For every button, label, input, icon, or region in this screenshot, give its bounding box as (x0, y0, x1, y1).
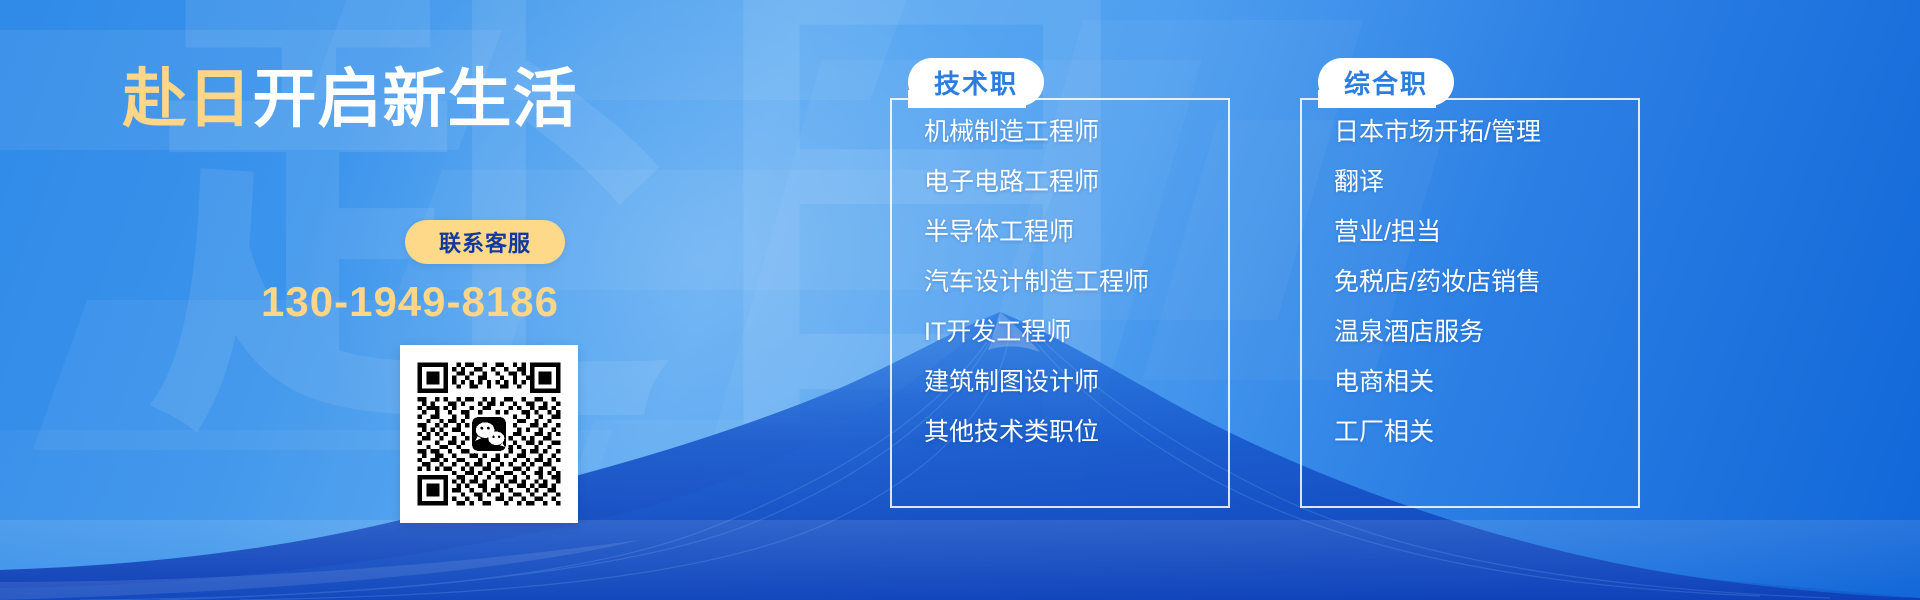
job-list-item[interactable]: 翻译 (1334, 170, 1541, 195)
job-list-item[interactable]: 温泉酒店服务 (1334, 320, 1541, 345)
job-list-item[interactable]: 其他技术类职位 (924, 420, 1149, 445)
phone-number[interactable]: 130-1949-8186 (200, 278, 620, 326)
job-list-general: 日本市场开拓/管理 翻译 营业/担当 免税店/药妆店销售 温泉酒店服务 电商相关… (1334, 120, 1541, 445)
job-category-tech-badge[interactable]: 技术职 (908, 58, 1044, 106)
job-list-item[interactable]: 机械制造工程师 (924, 120, 1149, 145)
job-list-item[interactable]: 日本市场开拓/管理 (1334, 120, 1541, 145)
page-title: 赴日开启新生活 (0, 48, 700, 140)
headline-accent: 赴日 (123, 63, 253, 135)
contact-support-button[interactable]: 联系客服 (405, 220, 565, 264)
left-panel: 赴日开启新生活 联系客服 130-1949-8186 (0, 0, 700, 600)
promo-banner: 赴日 (0, 0, 1920, 600)
qr-code-icon (409, 354, 569, 514)
headline-rest: 开启新生活 (253, 63, 578, 135)
job-list-item[interactable]: 营业/担当 (1334, 220, 1541, 245)
job-list-item[interactable]: 工厂相关 (1334, 420, 1541, 445)
wechat-qr-code[interactable] (400, 345, 578, 523)
job-list-item[interactable]: 电子电路工程师 (924, 170, 1149, 195)
job-list-item[interactable]: 建筑制图设计师 (924, 370, 1149, 395)
job-list-tech: 机械制造工程师 电子电路工程师 半导体工程师 汽车设计制造工程师 IT开发工程师… (924, 120, 1149, 445)
job-list-item[interactable]: 半导体工程师 (924, 220, 1149, 245)
job-list-item[interactable]: 电商相关 (1334, 370, 1541, 395)
job-list-item[interactable]: IT开发工程师 (924, 320, 1149, 345)
job-list-item[interactable]: 汽车设计制造工程师 (924, 270, 1149, 295)
job-category-general-badge[interactable]: 综合职 (1318, 58, 1454, 106)
job-list-item[interactable]: 免税店/药妆店销售 (1334, 270, 1541, 295)
